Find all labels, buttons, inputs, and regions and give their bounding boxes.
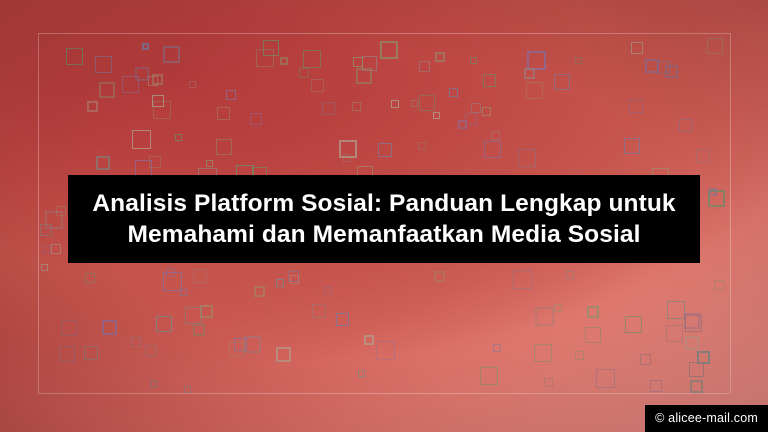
title-overlay-band: Analisis Platform Sosial: Panduan Lengka… <box>68 175 700 263</box>
image-canvas: Analisis Platform Sosial: Panduan Lengka… <box>0 0 768 432</box>
title-line-2: Memahami dan Memanfaatkan Media Sosial <box>127 219 640 250</box>
title-line-1: Analisis Platform Sosial: Panduan Lengka… <box>92 188 675 219</box>
credit-watermark: © alicee-mail.com <box>645 405 768 432</box>
